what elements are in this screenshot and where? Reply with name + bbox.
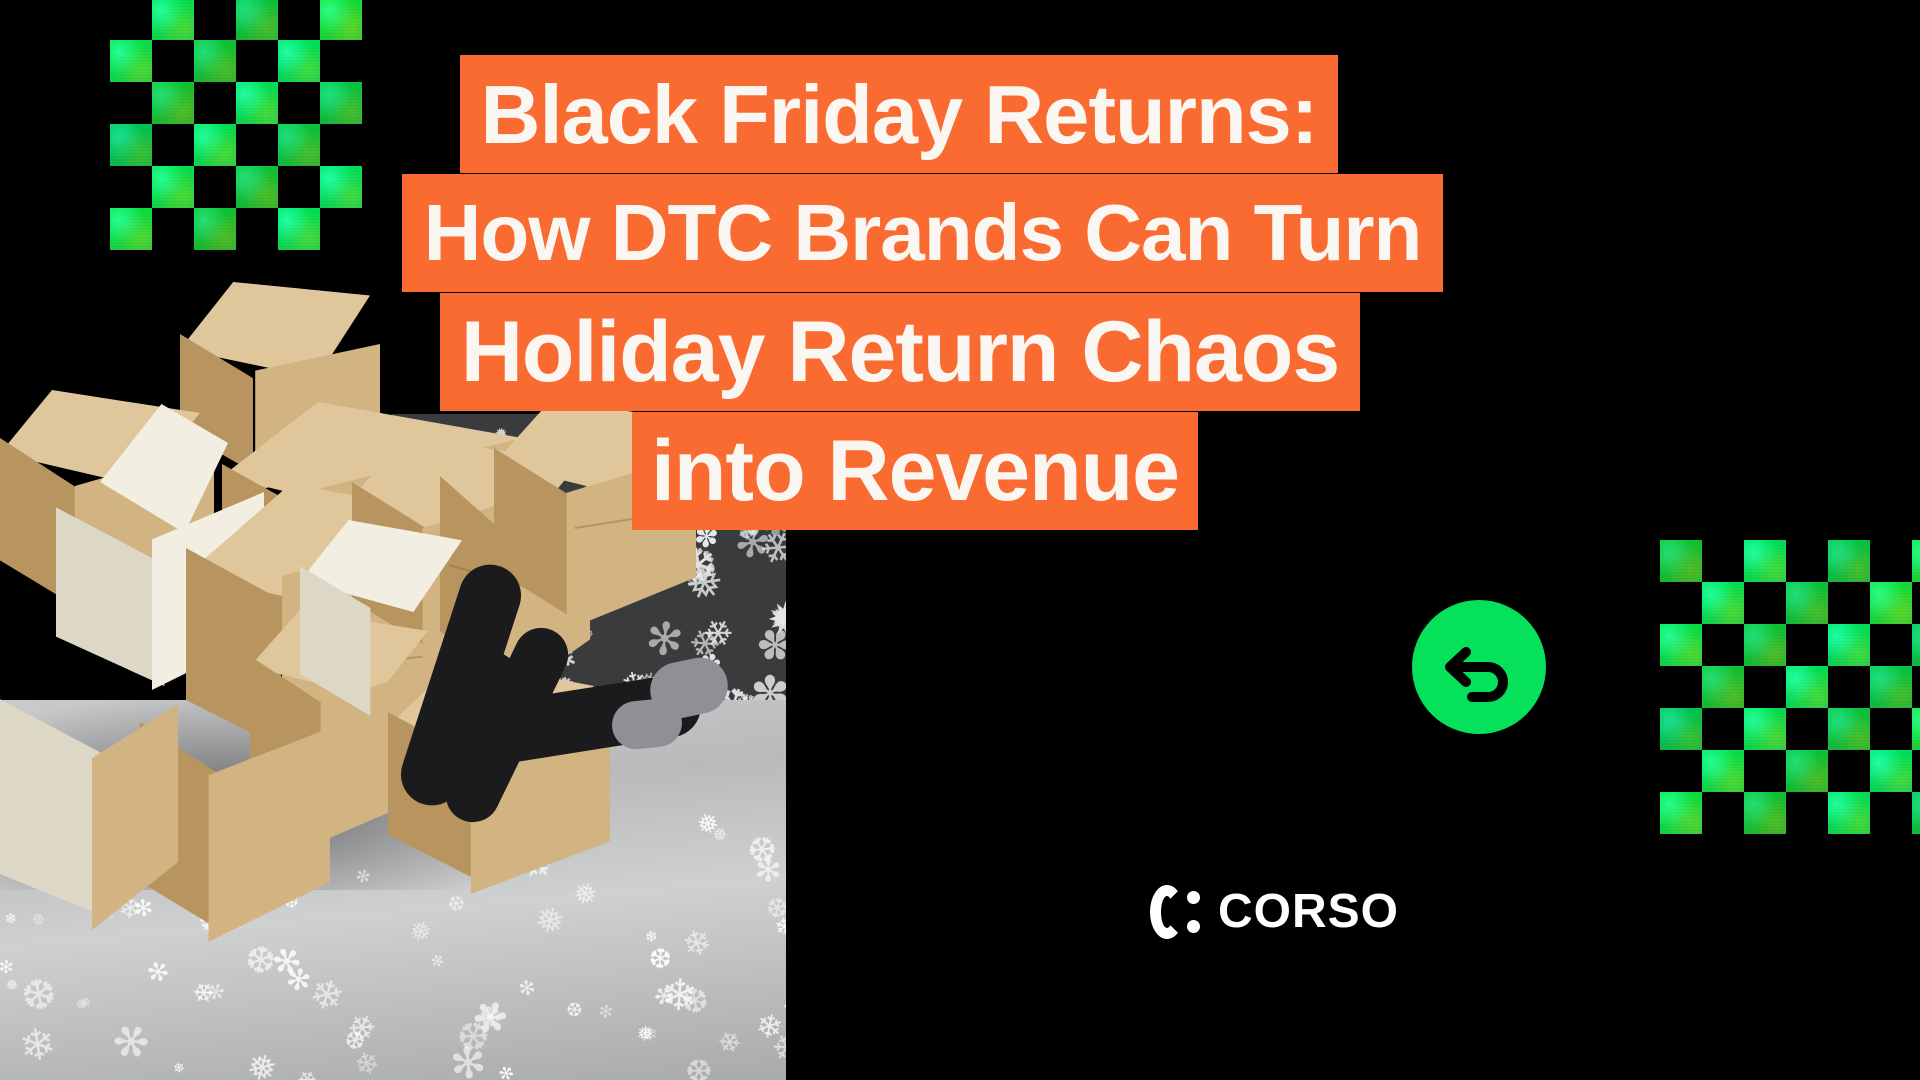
checker-cell xyxy=(1870,666,1912,708)
checker-cell xyxy=(194,166,236,208)
snowflake-motif: ❅ xyxy=(406,915,435,947)
checker-cell xyxy=(1744,666,1786,708)
checker-cell xyxy=(320,208,362,250)
return-arrow-icon xyxy=(1436,624,1522,710)
logo-dot-top xyxy=(1187,891,1200,904)
checker-cell xyxy=(1786,708,1828,750)
snowflake-motif: ❄ xyxy=(351,1047,383,1080)
checker-cell xyxy=(278,208,320,250)
checker-cell xyxy=(194,0,236,40)
corso-logo: CORSO xyxy=(1150,884,1399,939)
checker-cell xyxy=(1744,582,1786,624)
snowflake-motif: ❅ xyxy=(242,1047,280,1080)
checkerboard-top-left xyxy=(110,0,362,250)
checker-cell xyxy=(1660,666,1702,708)
checker-cell xyxy=(1660,540,1702,582)
checker-cell xyxy=(152,82,194,124)
checker-cell xyxy=(1912,666,1920,708)
checker-cell xyxy=(278,124,320,166)
checker-cell xyxy=(1702,750,1744,792)
checker-cell xyxy=(1660,624,1702,666)
snowflake-motif: ✻ xyxy=(104,1011,157,1067)
snowflake-motif: ✻ xyxy=(496,1065,516,1080)
checker-cell xyxy=(1828,624,1870,666)
checker-cell xyxy=(1744,624,1786,666)
snowflake-motif: ✻ xyxy=(782,999,786,1015)
headline-line-3: Holiday Return Chaos xyxy=(440,293,1360,411)
snowflake-motif: ❆ xyxy=(17,969,60,1017)
checker-cell xyxy=(1702,708,1744,750)
checker-cell xyxy=(1786,792,1828,834)
checker-cell xyxy=(1870,540,1912,582)
checker-cell xyxy=(1702,666,1744,708)
checker-cell xyxy=(1786,582,1828,624)
snowflake-motif: ❄ xyxy=(171,1060,187,1075)
headline-line-2: How DTC Brands Can Turn xyxy=(402,174,1443,292)
checker-cell xyxy=(1870,792,1912,834)
snowflake-motif: ❆ xyxy=(761,891,786,925)
checker-cell xyxy=(1828,792,1870,834)
checker-cell xyxy=(1744,792,1786,834)
snowflake-motif: ✻ xyxy=(477,1000,504,1030)
checker-cell xyxy=(320,0,362,40)
checker-cell xyxy=(236,124,278,166)
checker-cell xyxy=(1828,582,1870,624)
headline-line-1: Black Friday Returns: xyxy=(460,55,1338,173)
checker-cell xyxy=(236,0,278,40)
snowflake-motif: ❅ xyxy=(529,899,574,944)
checker-cell xyxy=(1870,708,1912,750)
corso-wordmark: CORSO xyxy=(1218,884,1399,939)
checker-cell xyxy=(236,208,278,250)
checker-cell xyxy=(278,82,320,124)
checker-cell xyxy=(1786,624,1828,666)
checker-cell xyxy=(1702,624,1744,666)
checker-cell xyxy=(1828,750,1870,792)
checker-cell xyxy=(194,124,236,166)
checker-cell xyxy=(1912,540,1920,582)
checker-cell xyxy=(1786,666,1828,708)
checker-cell xyxy=(1912,582,1920,624)
checker-cell xyxy=(1744,708,1786,750)
checker-cell xyxy=(320,166,362,208)
checker-cell xyxy=(152,166,194,208)
checker-cell xyxy=(1660,750,1702,792)
checker-cell xyxy=(1660,708,1702,750)
checker-cell xyxy=(320,40,362,82)
checker-cell xyxy=(278,166,320,208)
checker-cell xyxy=(1828,708,1870,750)
checker-cell xyxy=(110,82,152,124)
corso-logo-mark-icon xyxy=(1150,885,1200,939)
checkerboard-bottom-right xyxy=(1660,540,1920,834)
checker-cell xyxy=(1912,708,1920,750)
checker-cell xyxy=(320,124,362,166)
headline-line-2-text: How DTC Brands Can Turn xyxy=(424,193,1422,273)
checker-cell xyxy=(1870,582,1912,624)
checker-cell xyxy=(236,82,278,124)
headline-line-4: into Revenue xyxy=(632,412,1198,530)
logo-dot-bottom xyxy=(1187,920,1200,933)
checker-cell xyxy=(320,82,362,124)
checker-cell xyxy=(1786,540,1828,582)
snowflake-motif: ❆ xyxy=(443,889,469,915)
snowflake-motif: ❄ xyxy=(304,973,351,1015)
checker-cell xyxy=(110,166,152,208)
checker-cell xyxy=(1912,792,1920,834)
logo-c-arc xyxy=(1150,885,1184,939)
checker-cell xyxy=(152,124,194,166)
checker-cell xyxy=(1828,666,1870,708)
checker-cell xyxy=(1660,792,1702,834)
returns-badge xyxy=(1412,600,1546,734)
snowflake-motif: ✻ xyxy=(594,1000,616,1022)
checker-cell xyxy=(1828,540,1870,582)
headline-line-1-text: Black Friday Returns: xyxy=(481,73,1318,156)
checker-cell xyxy=(110,0,152,40)
checker-cell xyxy=(1912,624,1920,666)
cardboard-box xyxy=(0,690,170,940)
checker-cell xyxy=(110,208,152,250)
headline-line-4-text: into Revenue xyxy=(651,428,1179,514)
checker-cell xyxy=(1702,540,1744,582)
headline-line-3-text: Holiday Return Chaos xyxy=(461,309,1339,395)
checker-cell xyxy=(194,82,236,124)
snowflake-motif: ✻ xyxy=(428,950,448,970)
snowflake-motif: ❄ xyxy=(16,1017,59,1065)
checker-cell xyxy=(236,166,278,208)
snowflake-motif: ✻ xyxy=(513,976,538,999)
checker-cell xyxy=(1702,792,1744,834)
checker-cell xyxy=(152,208,194,250)
snowflake-motif: ❄ xyxy=(293,1064,321,1080)
checker-cell xyxy=(110,124,152,166)
checker-cell xyxy=(1660,582,1702,624)
snowflake-motif: ❄ xyxy=(675,924,715,960)
checker-cell xyxy=(236,40,278,82)
checker-cell xyxy=(152,0,194,40)
checker-cell xyxy=(1702,582,1744,624)
checker-cell xyxy=(1786,750,1828,792)
snowflake-motif: ❆ xyxy=(565,1000,586,1019)
checker-cell xyxy=(152,40,194,82)
checker-cell xyxy=(1744,540,1786,582)
snowflake-motif: ✻ xyxy=(143,955,172,987)
checker-cell xyxy=(278,40,320,82)
checker-cell xyxy=(1912,750,1920,792)
checker-cell xyxy=(194,40,236,82)
checker-cell xyxy=(278,0,320,40)
snowflake-motif: ❄ xyxy=(714,1029,744,1055)
checker-cell xyxy=(1744,750,1786,792)
checker-cell xyxy=(110,40,152,82)
checker-cell xyxy=(194,208,236,250)
snowflake-motif: ❅ xyxy=(711,826,730,842)
snowflake-motif: ❆ xyxy=(678,1049,717,1080)
checker-cell xyxy=(1870,624,1912,666)
checker-cell xyxy=(1870,750,1912,792)
promo-banner: ❆❄✻✻❄✽✻❄✻❆✹❆❅✽❅❄❆✹✻❄❆❅✻❄✽❄❆❄❆✽❆✽❄✽✹❅✽❄❅✹… xyxy=(0,0,1920,1080)
